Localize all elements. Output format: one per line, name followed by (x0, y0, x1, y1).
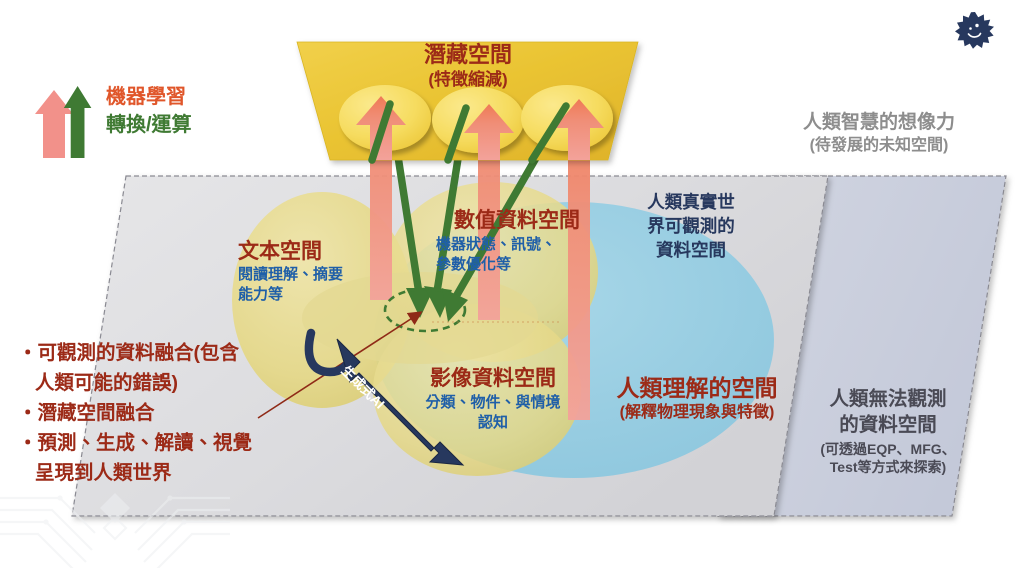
salmon-up-arrow-icon (35, 90, 73, 158)
observable-space-line1: 人類真實世 (606, 192, 776, 213)
bullet-list: ・可觀測的資料融合(包含 人類可能的錯誤) ・潛藏空間融合 ・預測、生成、解讀、… (18, 336, 328, 486)
bullet-text: 可觀測的資料融合(包含 (38, 342, 240, 364)
unobservable-space-line1: 人類無法觀測 (788, 388, 988, 411)
legend-label-transform: 轉換/運算 (106, 114, 192, 138)
text-space-title: 文本空間 (238, 240, 322, 265)
bullet-text: 預測、生成、解讀、視覺 (38, 432, 253, 454)
bullet-marker: ・ (18, 342, 38, 364)
text-space-sub1: 閱讀理解、摘要 (238, 266, 343, 284)
sun-face-logo (955, 10, 995, 50)
imagination-note-line2: (待發展的未知空間) (768, 137, 990, 156)
text-space-sub2: 能力等 (238, 286, 283, 304)
circuit-decoration (0, 488, 230, 568)
bullet-item-cont: 呈現到人類世界 (18, 456, 328, 485)
unobservable-space-sub1: (可透過EQP、MFG、 (784, 441, 992, 458)
bullet-item: ・預測、生成、解讀、視覺 (18, 426, 328, 455)
bullet-marker: ・ (18, 432, 38, 454)
bullet-text: 人類可能的錯誤) (35, 372, 178, 394)
numeric-space-sub2: 參數優化等 (436, 256, 511, 274)
image-space-title: 影像資料空間 (398, 367, 588, 392)
bullet-item: ・可觀測的資料融合(包含 (18, 336, 328, 365)
numeric-space-sub1: 機器狀態、訊號、 (436, 236, 556, 254)
bullet-text: 呈現到人類世界 (35, 462, 172, 484)
observable-space-line2: 界可觀測的 (606, 216, 776, 237)
legend: 機器學習 轉換/運算 (34, 84, 244, 170)
imagination-note-line1: 人類智慧的想像力 (768, 112, 990, 134)
bullet-marker: ・ (18, 402, 38, 424)
latent-space-title: 潛藏空間 (348, 42, 588, 68)
numeric-space-title: 數值資料空間 (422, 209, 612, 234)
legend-label-ml: 機器學習 (106, 86, 192, 110)
unobservable-space-sub2: Test等方式來探索) (784, 459, 992, 476)
legend-arrow-icons (34, 84, 98, 158)
bullet-text: 潛藏空間融合 (38, 402, 155, 424)
bullet-item: ・潛藏空間融合 (18, 396, 328, 425)
human-understanding-sub: (解釋物理現象與特徵) (592, 404, 802, 423)
green-up-arrow-icon (64, 86, 92, 158)
human-understanding-title: 人類理解的空間 (592, 375, 802, 402)
image-space-sub2: 認知 (396, 414, 590, 432)
image-space-sub1: 分類、物件、與情境 (396, 394, 590, 412)
latent-space-subtitle: (特徵縮減) (348, 70, 588, 90)
slide-canvas: 潛藏空間 (特徵縮減) 機器學習 轉換/運算 人類智慧的想像力 (待發展的未知空… (0, 0, 1024, 568)
observable-space-line3: 資料空間 (606, 240, 776, 261)
bullet-item-cont: 人類可能的錯誤) (18, 366, 328, 395)
unobservable-space-line2: 的資料空間 (788, 414, 988, 437)
